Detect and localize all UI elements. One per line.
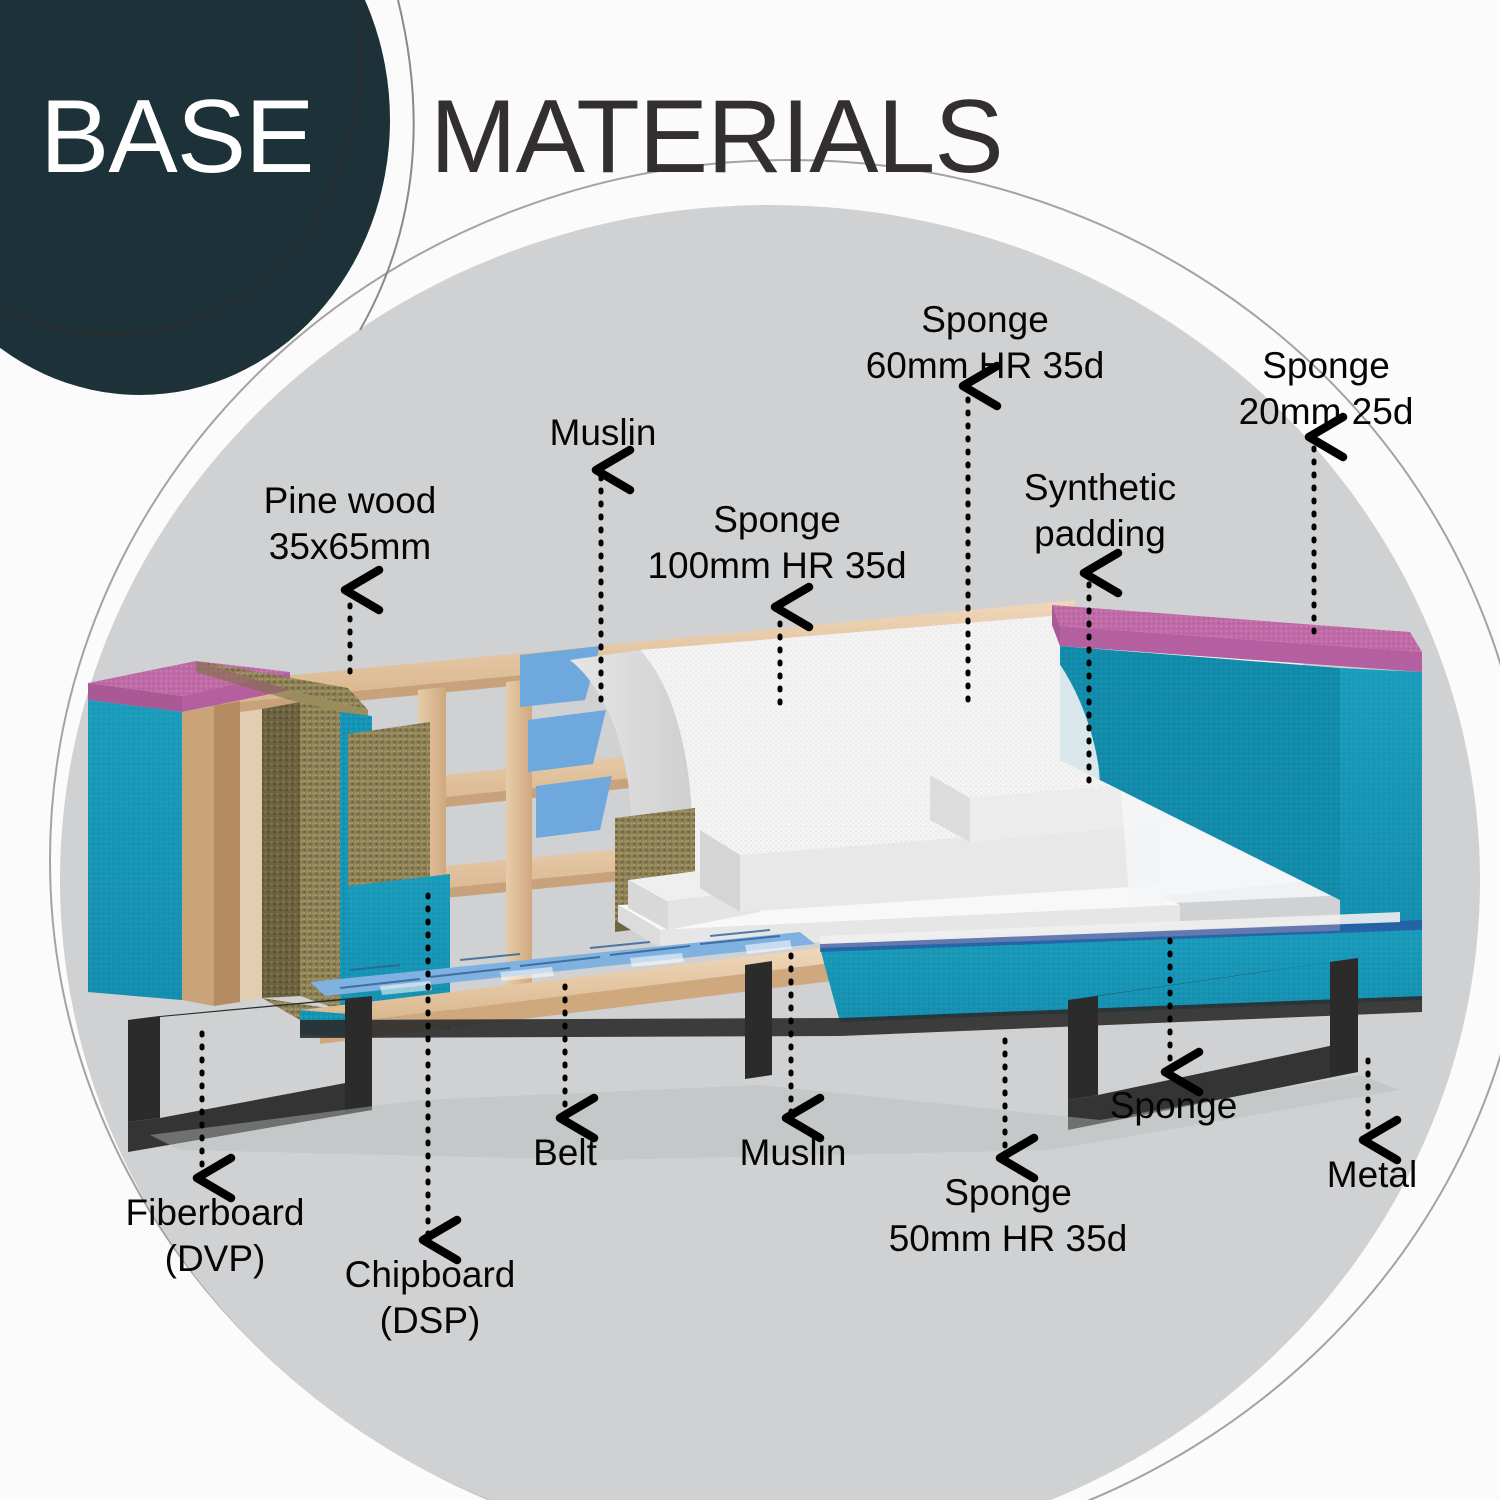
callout-label-sponge-50: Sponge50mm HR 35d [848,1170,1168,1262]
callout-label-synthetic-padding-line-1: Synthetic [985,465,1215,511]
callout-label-chipboard-dsp: Chipboard(DSP) [310,1252,550,1344]
badge-title: BASE [40,78,313,197]
callout-label-muslin-bottom: Muslin [718,1130,868,1176]
callout-label-metal: Metal [1297,1152,1447,1198]
callout-label-fiberboard-dvp-line-1: Fiberboard [90,1190,340,1236]
callout-label-pine-wood-line-1: Pine wood [240,478,460,524]
callout-label-sponge-20-line-2: 20mm 25d [1196,389,1456,435]
callout-label-belt: Belt [505,1130,625,1176]
callout-label-pine-wood-line-2: 35x65mm [240,524,460,570]
callout-label-sponge-60-line-1: Sponge [820,297,1150,343]
callout-label-sponge-100-line-1: Sponge [612,497,942,543]
callout-label-sponge-right-line-1: Sponge [1086,1083,1261,1129]
callout-label-belt-line-1: Belt [505,1130,625,1176]
callout-label-chipboard-dsp-line-2: (DSP) [310,1298,550,1344]
callout-label-metal-line-1: Metal [1297,1152,1447,1198]
callout-label-sponge-right: Sponge [1086,1083,1261,1129]
callout-label-sponge-20: Sponge20mm 25d [1196,343,1456,435]
callout-label-muslin-bottom-line-1: Muslin [718,1130,868,1176]
callout-label-chipboard-dsp-line-1: Chipboard [310,1252,550,1298]
callout-label-sponge-60: Sponge60mm HR 35d [820,297,1150,389]
callout-label-muslin-top-line-1: Muslin [528,410,678,456]
callout-label-sponge-60-line-2: 60mm HR 35d [820,343,1150,389]
callout-label-sponge-50-line-1: Sponge [848,1170,1168,1216]
callout-label-synthetic-padding: Syntheticpadding [985,465,1215,557]
callout-label-sponge-50-line-2: 50mm HR 35d [848,1216,1168,1262]
callout-label-sponge-100-line-2: 100mm HR 35d [612,543,942,589]
callout-label-sponge-100: Sponge100mm HR 35d [612,497,942,589]
callout-label-muslin-top: Muslin [528,410,678,456]
callout-label-fiberboard-dvp: Fiberboard(DVP) [90,1190,340,1282]
callout-label-synthetic-padding-line-2: padding [985,511,1215,557]
infographic-canvas: BASE MATERIALS Pine wood35x65mmMuslinSpo… [0,0,1500,1500]
callout-label-pine-wood: Pine wood35x65mm [240,478,460,570]
page-title: MATERIALS [430,78,1003,197]
callout-label-sponge-20-line-1: Sponge [1196,343,1456,389]
callout-label-fiberboard-dvp-line-2: (DVP) [90,1236,340,1282]
